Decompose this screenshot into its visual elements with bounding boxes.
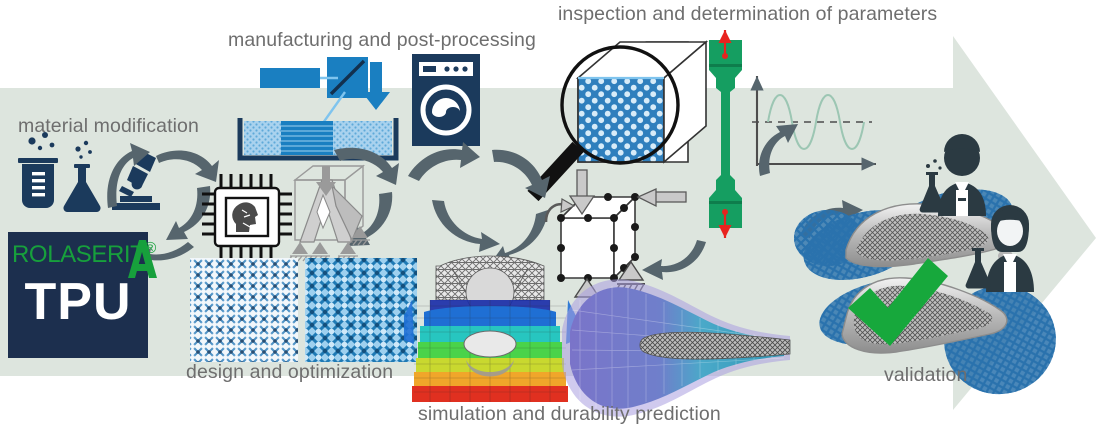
- logo-a-mark: [108, 234, 168, 282]
- ct-scan-cube-icon: [578, 42, 706, 162]
- label-validation: validation: [884, 364, 967, 387]
- fem-stress-saddle-icon: [404, 256, 576, 402]
- label-manufacturing: manufacturing and post-processing: [228, 29, 536, 52]
- fem-dogbone-icon: [562, 279, 790, 416]
- powder-bed-icon: [240, 118, 396, 158]
- scientist-male-icon: [920, 134, 986, 216]
- label-material-modification: material modification: [18, 115, 199, 138]
- label-inspection: inspection and determination of paramete…: [558, 3, 937, 26]
- laser-source-icon: [260, 68, 320, 88]
- tensile-specimen-icon: [709, 30, 742, 238]
- washing-machine-icon: [412, 54, 480, 146]
- logo-material: TPU: [8, 276, 148, 328]
- cycle-arrow-icon: [408, 142, 550, 264]
- topology-optimization-icon: [288, 166, 370, 261]
- label-design-optimization: design and optimization: [186, 361, 393, 384]
- load-arrow-left: [638, 189, 686, 206]
- beaker-icon: [18, 132, 58, 208]
- lattice-pattern-coarse-icon: [305, 258, 417, 362]
- erlenmeyer-flask-icon: [63, 141, 100, 212]
- lattice-pattern-fine-icon: [190, 258, 298, 362]
- ai-chip-brain-icon: [202, 174, 292, 260]
- workflow-diagram: ROLASERIT® TPU material modification man…: [0, 0, 1100, 438]
- label-simulation: simulation and durability prediction: [418, 403, 721, 426]
